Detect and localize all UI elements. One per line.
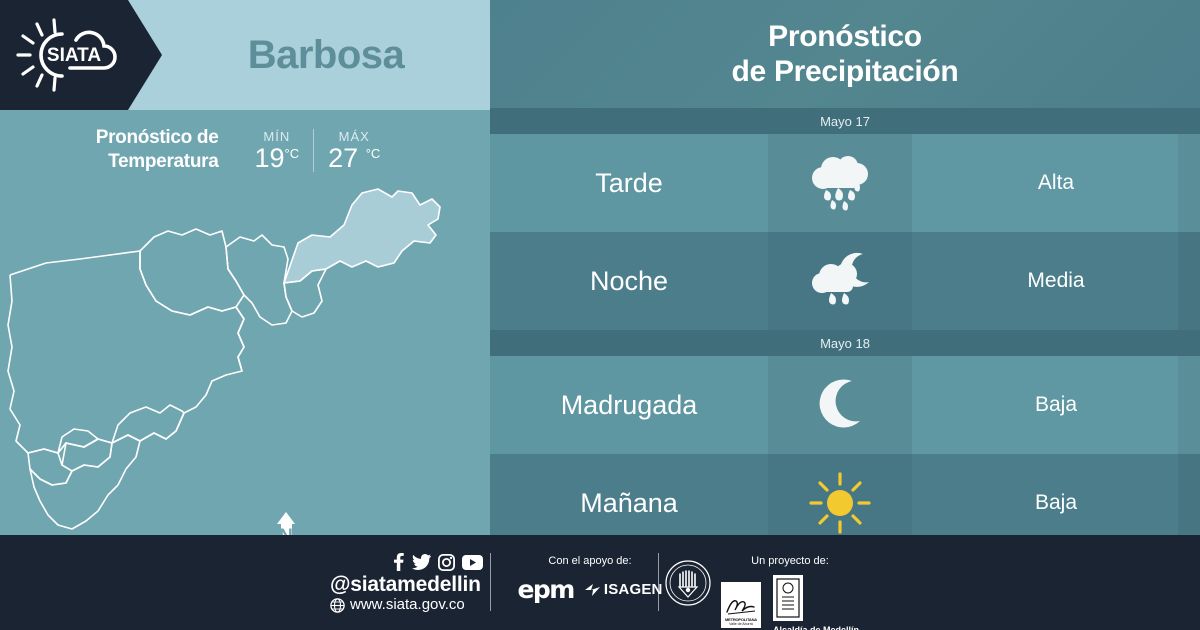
precipitation-header: Pronóstico de Precipitación <box>490 0 1200 108</box>
support-logos: epm ISAGEN <box>505 575 675 604</box>
rain-cloud-icon <box>803 152 877 214</box>
project-logos: METROPOLITANA Valle de Aburrá Alcaldía d… <box>700 575 880 630</box>
city-title: Barbosa <box>162 0 490 110</box>
siata-logo-banner: SIATA <box>0 0 162 110</box>
temperature-min-label: MÍN <box>255 129 300 144</box>
epm-logo: epm <box>517 575 573 604</box>
siata-logo-text: SIATA <box>47 45 101 66</box>
forecast-probability: Media <box>912 232 1200 330</box>
support-block: Con el apoyo de: epm ISAGEN <box>505 555 675 604</box>
project-caption: Un proyecto de: <box>700 555 880 567</box>
sun-icon <box>807 470 873 536</box>
temperature-values: MÍN 19°C MÁX 27 °C <box>241 129 395 172</box>
map-region-bello <box>140 229 244 315</box>
left-panel: SIATA Barbosa Pronóstico de Temperatura … <box>0 0 490 535</box>
facebook-icon[interactable] <box>392 553 405 571</box>
footer-divider-1 <box>490 553 491 611</box>
precipitation-title-line1: Pronóstico <box>732 19 959 54</box>
forecast-period: Madrugada <box>490 356 768 454</box>
temperature-title: Pronóstico de Temperatura <box>96 126 219 174</box>
area-metropolitana-logo: METROPOLITANA Valle de Aburrá <box>721 582 761 628</box>
isagen-logo: ISAGEN <box>584 581 663 598</box>
project-block: Un proyecto de: METROPOLITANA Valle de A… <box>700 555 880 630</box>
website-row[interactable]: www.siata.gov.co <box>330 596 483 614</box>
temperature-max-label: MÁX <box>328 129 380 144</box>
website-text: www.siata.gov.co <box>350 596 465 614</box>
forecast-period: Noche <box>490 232 768 330</box>
precipitation-panel: Pronóstico de Precipitación Mayo 17 Tard… <box>490 0 1200 535</box>
temperature-max: MÁX 27 °C <box>313 129 394 172</box>
social-handle[interactable]: @siatamedellin <box>330 573 483 596</box>
support-caption: Con el apoyo de: <box>505 555 675 567</box>
siata-logo-icon: SIATA <box>14 18 134 92</box>
forecast-probability: Baja <box>912 356 1200 454</box>
forecast-icon-cell <box>768 232 912 330</box>
isagen-text: ISAGEN <box>604 581 663 598</box>
aburra-valley-map: N <box>0 185 490 535</box>
moon-icon <box>810 375 870 435</box>
precipitation-title: Pronóstico de Precipitación <box>732 19 959 90</box>
temperature-min: MÍN 19°C <box>241 129 314 172</box>
social-block: @siatamedellin www.siata.gov.co <box>330 553 483 614</box>
map-region-itagui <box>58 429 98 453</box>
area-signature-icon <box>724 593 758 617</box>
north-arrow-icon <box>277 512 295 524</box>
temperature-title-line2: Temperatura <box>96 150 219 174</box>
temperature-max-value: 27 °C <box>328 145 380 172</box>
footer-divider-2 <box>658 553 659 611</box>
temperature-block: Pronóstico de Temperatura MÍN 19°C MÁX 2… <box>0 110 490 190</box>
map-region-la-estrella <box>28 449 72 485</box>
instagram-icon[interactable] <box>438 554 455 571</box>
forecast-row[interactable]: Noche Media <box>490 232 1200 330</box>
temperature-min-unit: °C <box>285 146 300 161</box>
forecast-row[interactable]: Tarde <box>490 134 1200 232</box>
forecast-icon-cell <box>768 134 912 232</box>
forecast-period: Tarde <box>490 134 768 232</box>
infographic-root: SIATA Barbosa Pronóstico de Temperatura … <box>0 0 1200 630</box>
youtube-icon[interactable] <box>462 555 483 570</box>
social-icons <box>392 553 483 571</box>
date-divider-day2: Mayo 18 <box>490 330 1200 356</box>
precipitation-title-line2: de Precipitación <box>732 54 959 89</box>
temperature-max-unit: °C <box>366 146 381 161</box>
map-region-north-edge <box>10 251 244 371</box>
alcaldia-logo <box>773 575 803 621</box>
map-region-barbosa <box>284 189 440 283</box>
alcaldia-block: Alcaldía de Medellín <box>773 575 859 630</box>
forecast-rows: Mayo 17 Tarde <box>490 108 1200 552</box>
area-logo-line2: Valle de Aburrá <box>729 622 753 626</box>
alcaldia-crest-icon <box>773 575 803 621</box>
globe-icon <box>330 598 345 613</box>
footer: @siatamedellin www.siata.gov.co Con el a… <box>0 535 1200 630</box>
isagen-mark-icon <box>584 583 601 597</box>
temperature-title-line1: Pronóstico de <box>96 126 219 150</box>
map-svg <box>0 185 490 535</box>
map-region-medellin <box>8 275 244 453</box>
alcaldia-label: Alcaldía de Medellín <box>773 625 859 630</box>
date-divider-day1: Mayo 17 <box>490 108 1200 134</box>
forecast-probability: Alta <box>912 134 1200 232</box>
temperature-min-value: 19°C <box>255 145 300 172</box>
twitter-icon[interactable] <box>412 554 431 570</box>
forecast-row[interactable]: Madrugada Baja <box>490 356 1200 454</box>
moon-rain-cloud-icon <box>803 250 877 312</box>
forecast-icon-cell <box>768 356 912 454</box>
